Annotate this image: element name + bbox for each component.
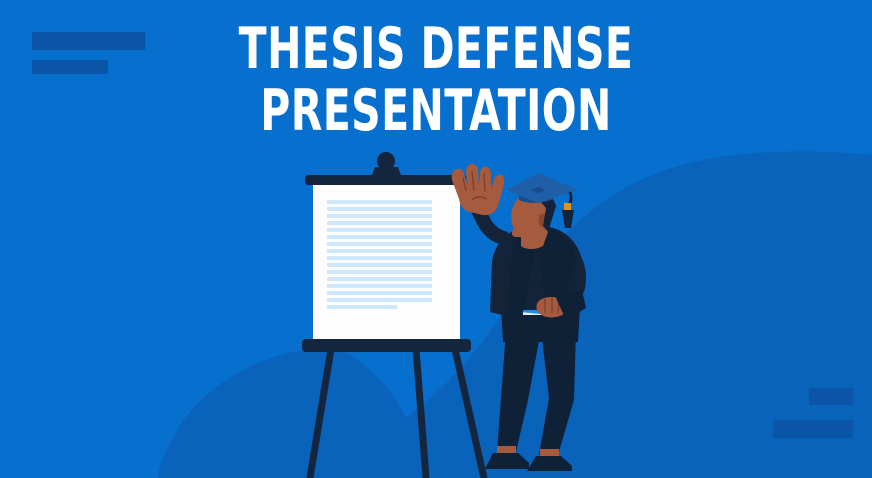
paper-line	[327, 291, 432, 295]
presenter-back-ankle	[540, 449, 559, 457]
paper-line	[327, 235, 432, 239]
bottom-right-bar-long	[773, 420, 853, 438]
easel-knob-icon	[377, 152, 395, 170]
paper-line	[327, 270, 432, 274]
slide-illustration	[0, 0, 872, 478]
paper-line	[327, 221, 432, 225]
top-left-bar-short	[32, 60, 108, 74]
bottom-right-bar-short	[809, 388, 853, 405]
paper-line-last	[327, 305, 397, 309]
easel-top-bar	[305, 175, 466, 185]
paper-line	[327, 228, 432, 232]
easel-bottom-bar	[302, 339, 471, 352]
cap-tassel-accent-icon	[564, 203, 571, 211]
paper-line	[327, 207, 432, 211]
paper-line	[327, 256, 432, 260]
paper-line	[327, 277, 432, 281]
paper-line	[327, 298, 432, 302]
paper-line	[327, 263, 432, 267]
paper-line	[327, 214, 432, 218]
paper-line	[327, 284, 432, 288]
top-left-bar-long	[32, 32, 145, 50]
presenter-front-ankle	[497, 446, 516, 454]
presentation-slide: THESIS DEFENSE PRESENTATION	[0, 0, 872, 478]
paper-line	[327, 242, 432, 246]
flipchart-paper	[313, 182, 460, 342]
paper-line	[327, 249, 432, 253]
paper-line	[327, 200, 432, 204]
